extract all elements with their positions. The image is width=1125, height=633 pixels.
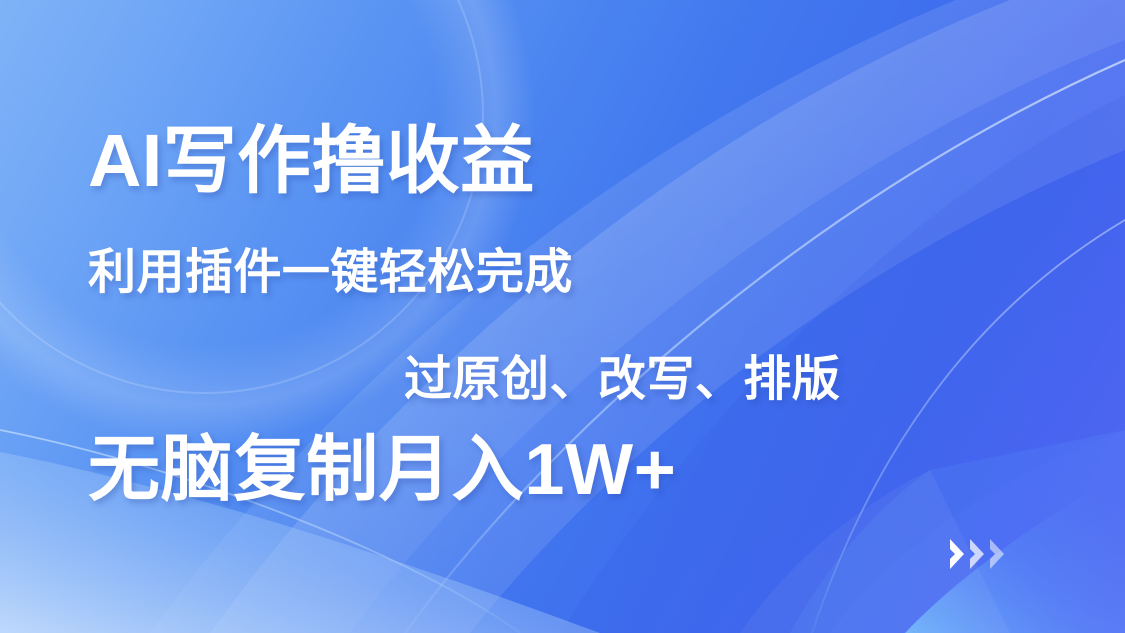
subtitle-line-2: 过原创、改写、排版 (404, 356, 840, 404)
poster-canvas: AI写作撸收益 利用插件一键轻松完成 过原创、改写、排版 无脑复制月入1W+ (0, 0, 1125, 633)
page-title: AI写作撸收益 (88, 124, 535, 198)
subtitle-line-3: 无脑复制月入1W+ (88, 434, 677, 506)
subtitle-line-1: 利用插件一键轻松完成 (88, 249, 573, 297)
chevron-arrow-group (948, 537, 1006, 571)
chevron-right-icon (988, 537, 1006, 571)
chevron-right-icon (948, 537, 966, 571)
chevron-right-icon (968, 537, 986, 571)
